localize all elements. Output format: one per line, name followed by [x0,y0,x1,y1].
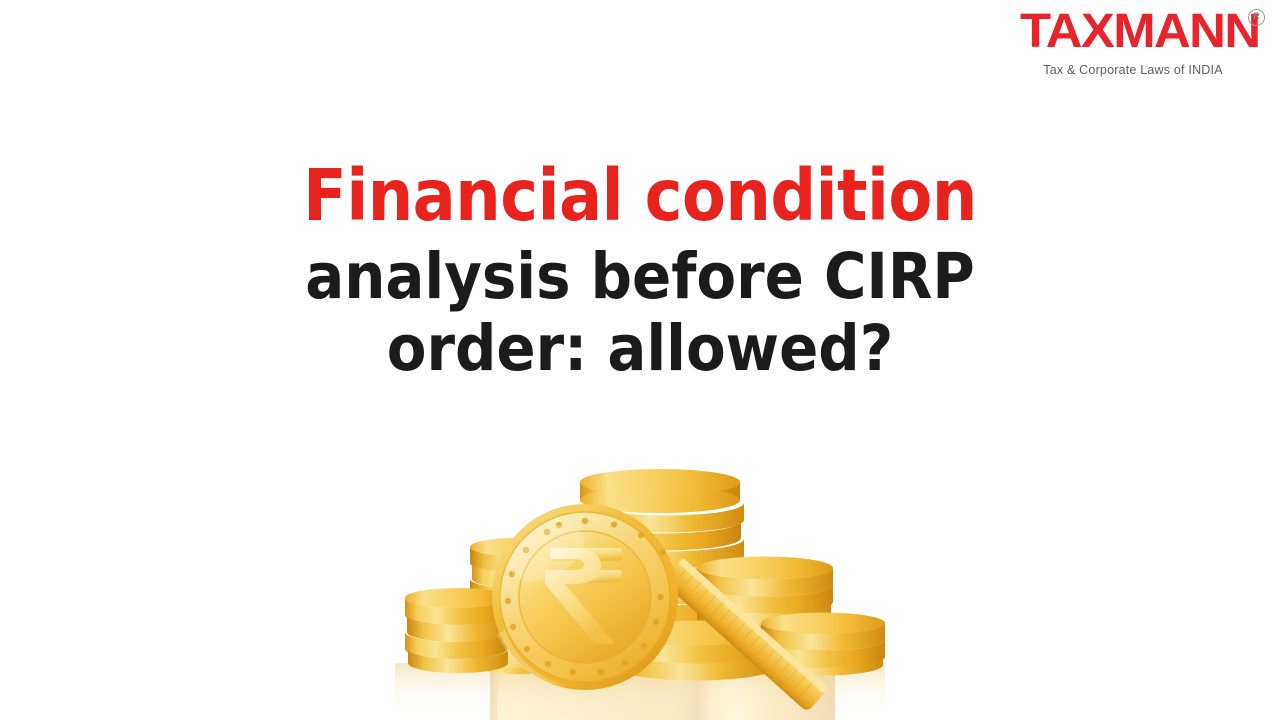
front-rupee-coin [492,504,678,690]
taxmann-logo: TAXMANN R Tax & Corporate Laws of INDIA [1008,8,1258,86]
headline-block: Financial condition analysis before CIRP… [0,160,1280,389]
logo-wordmark: TAXMANN [1020,8,1259,57]
headline-line-2: analysis before CIRP [0,245,1280,308]
gold-coins-illustration [395,455,885,720]
logo-wordmark-wrap: TAXMANN R [1020,8,1246,57]
headline-line-1: Financial condition [0,160,1280,231]
logo-tagline: Tax & Corporate Laws of INDIA [1008,63,1258,77]
coins-svg [395,455,885,720]
registered-trademark-icon: R [1248,9,1265,26]
headline-line-3: order: allowed? [0,317,1280,380]
